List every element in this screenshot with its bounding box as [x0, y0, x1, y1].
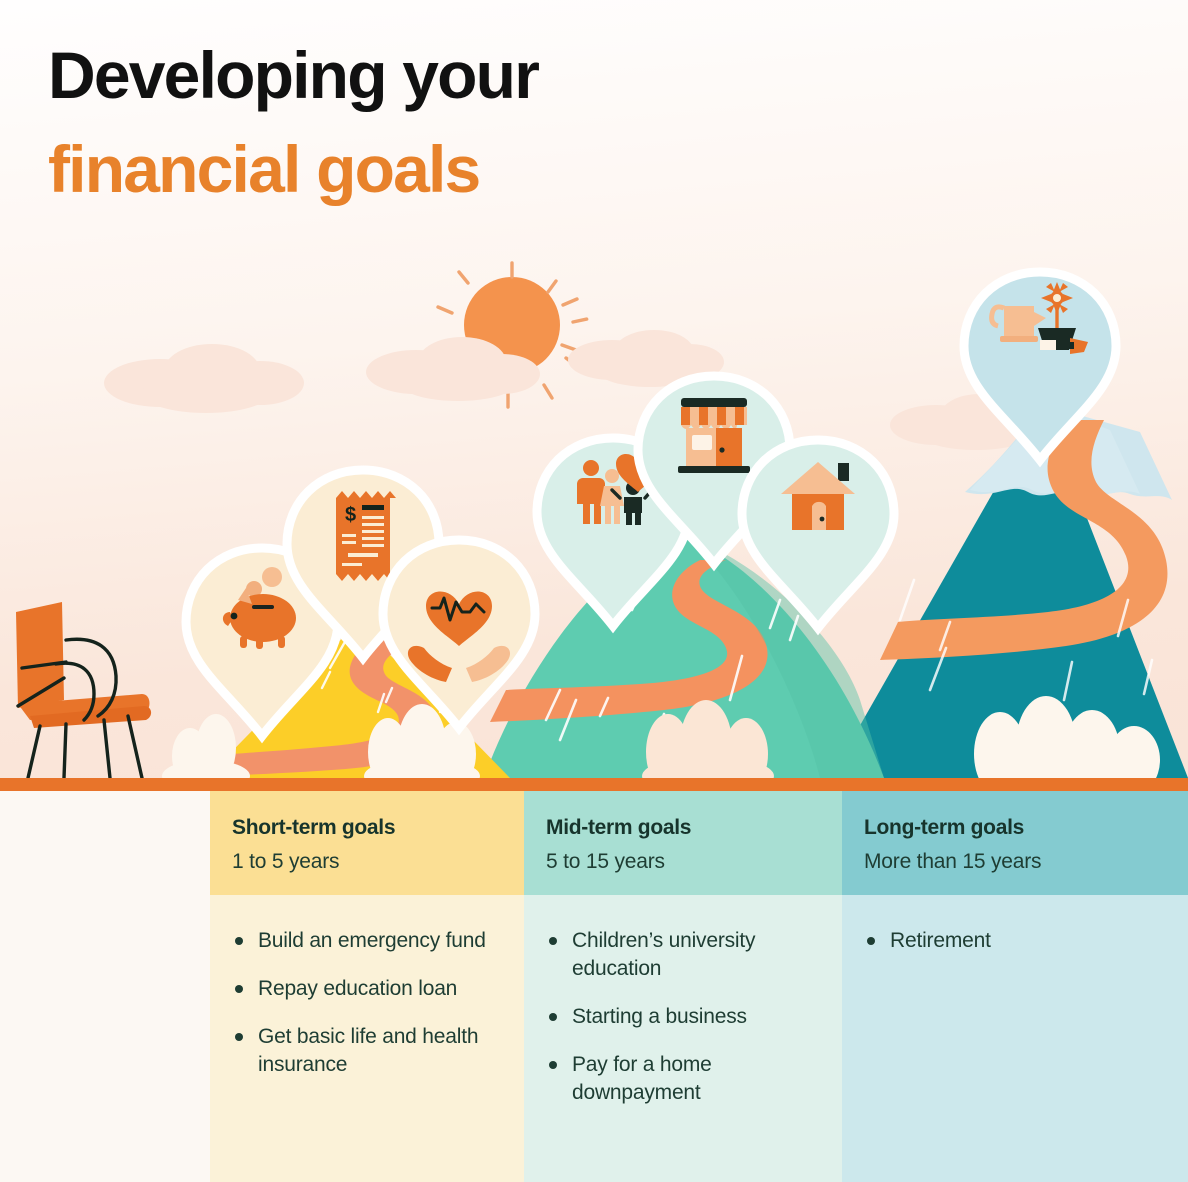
title-line-primary: Developing your — [48, 42, 538, 108]
column-body-short-term: Build an emergency fund Repay education … — [210, 895, 524, 1182]
column-long-term: Long-term goals More than 15 years Retir… — [842, 790, 1188, 1182]
goal-list-short-term: Build an emergency fund Repay education … — [232, 927, 494, 1079]
long-term-mountain — [830, 405, 1188, 790]
storefront-icon — [678, 398, 750, 473]
list-item: Build an emergency fund — [232, 927, 494, 955]
svg-text:$: $ — [345, 504, 356, 526]
column-body-long-term: Retirement — [842, 895, 1188, 1182]
column-subtitle: More than 15 years — [864, 850, 1188, 874]
column-title: Mid-term goals — [546, 816, 842, 840]
column-title: Long-term goals — [864, 816, 1188, 840]
list-item: Repay education loan — [232, 975, 494, 1003]
ground-bar — [0, 778, 1188, 791]
list-item: Get basic life and health insurance — [232, 1023, 494, 1079]
armchair-icon — [16, 602, 151, 778]
goals-table: Short-term goals 1 to 5 years Build an e… — [0, 790, 1188, 1182]
page-title: Developing your financial goals — [48, 42, 538, 202]
column-short-term: Short-term goals 1 to 5 years Build an e… — [210, 790, 524, 1182]
goal-list-long-term: Retirement — [864, 927, 1158, 955]
list-item: Retirement — [864, 927, 1158, 955]
column-subtitle: 1 to 5 years — [232, 850, 524, 874]
column-subtitle: 5 to 15 years — [546, 850, 842, 874]
infographic-page: $ — [0, 0, 1188, 1182]
column-mid-term: Mid-term goals 5 to 15 years Children’s … — [524, 790, 842, 1182]
goal-list-mid-term: Children’s university education Starting… — [546, 927, 812, 1107]
column-body-mid-term: Children’s university education Starting… — [524, 895, 842, 1182]
column-header-short-term: Short-term goals 1 to 5 years — [210, 790, 524, 895]
cloud-icon — [104, 330, 1052, 450]
column-title: Short-term goals — [232, 816, 524, 840]
column-header-mid-term: Mid-term goals 5 to 15 years — [524, 790, 842, 895]
list-item: Starting a business — [546, 1003, 812, 1031]
bill-receipt-icon: $ — [336, 491, 396, 581]
title-line-accent: financial goals — [48, 136, 538, 202]
list-item: Children’s university education — [546, 927, 812, 983]
column-header-long-term: Long-term goals More than 15 years — [842, 790, 1188, 895]
list-item: Pay for a home downpayment — [546, 1051, 812, 1107]
